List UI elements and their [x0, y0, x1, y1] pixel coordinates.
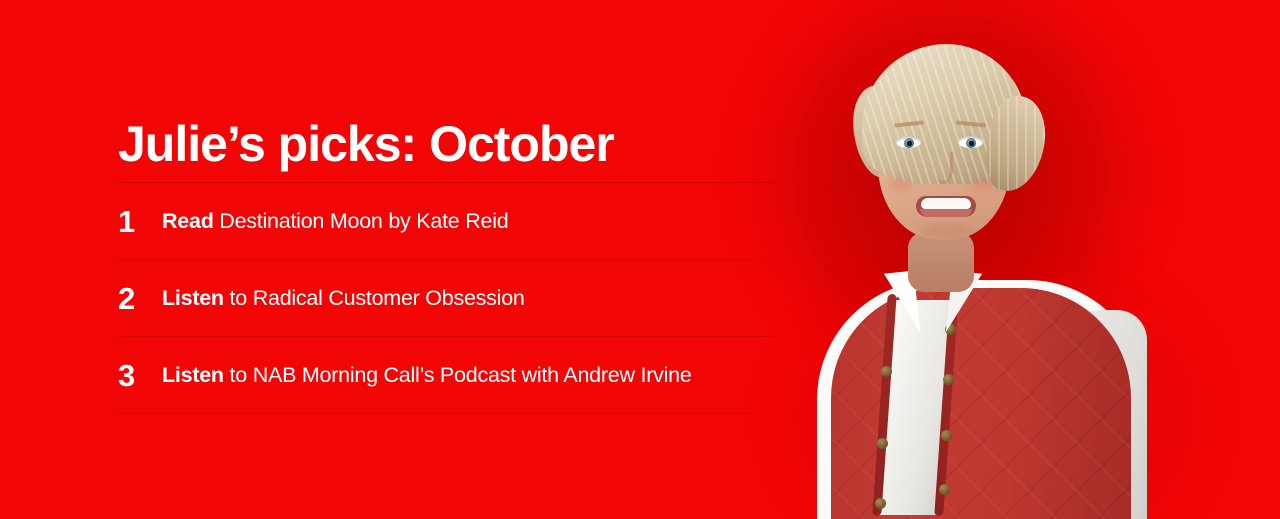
list-item[interactable]: 2 Listen to Radical Customer Obsession [118, 260, 773, 336]
list-item[interactable]: 1 Read Destination Moon by Kate Reid [118, 183, 773, 259]
mouth [916, 196, 976, 217]
vest-button [943, 374, 954, 385]
pick-description: Destination Moon by Kate Reid [214, 209, 509, 233]
pupil-left [907, 141, 912, 146]
pick-description: to Radical Customer Obsession [224, 286, 525, 310]
chin-shadow [920, 224, 972, 238]
pick-number: 3 [118, 360, 162, 391]
portrait-photo [770, 0, 1190, 519]
page-title: Julie’s picks: October [118, 118, 614, 171]
pick-verb: Read [162, 209, 214, 233]
list-item[interactable]: 3 Listen to NAB Morning Call’s Podcast w… [118, 337, 773, 413]
neck [908, 232, 974, 292]
eye-right [958, 136, 983, 148]
pick-text: Read Destination Moon by Kate Reid [162, 209, 508, 234]
portrait-torso [795, 262, 1165, 519]
picks-list: 1 Read Destination Moon by Kate Reid 2 L… [118, 182, 773, 414]
vest-button [881, 366, 892, 377]
pick-text: Listen to NAB Morning Call’s Podcast wit… [162, 363, 692, 388]
pupil-right [969, 141, 974, 146]
teeth [921, 198, 971, 209]
cheek-right [970, 176, 994, 192]
pick-verb: Listen [162, 363, 224, 387]
pick-description: to NAB Morning Call’s Podcast with Andre… [224, 363, 692, 387]
pick-number: 2 [118, 283, 162, 314]
pick-number: 1 [118, 206, 162, 237]
list-divider-bottom [118, 413, 773, 414]
vest-button [941, 430, 952, 441]
pick-verb: Listen [162, 286, 224, 310]
julies-picks-banner: Julie’s picks: October 1 Read Destinatio… [0, 0, 1280, 519]
banner-content: Julie’s picks: October 1 Read Destinatio… [118, 0, 778, 519]
lower-lip [920, 209, 972, 217]
pick-text: Listen to Radical Customer Obsession [162, 286, 525, 311]
iris-right [966, 138, 976, 148]
nose [936, 152, 953, 184]
vest-button [875, 498, 886, 509]
cheek-left [888, 176, 912, 192]
vest-button [877, 438, 888, 449]
eye-left [896, 136, 921, 148]
vest-button [939, 484, 950, 495]
iris-left [904, 138, 914, 148]
